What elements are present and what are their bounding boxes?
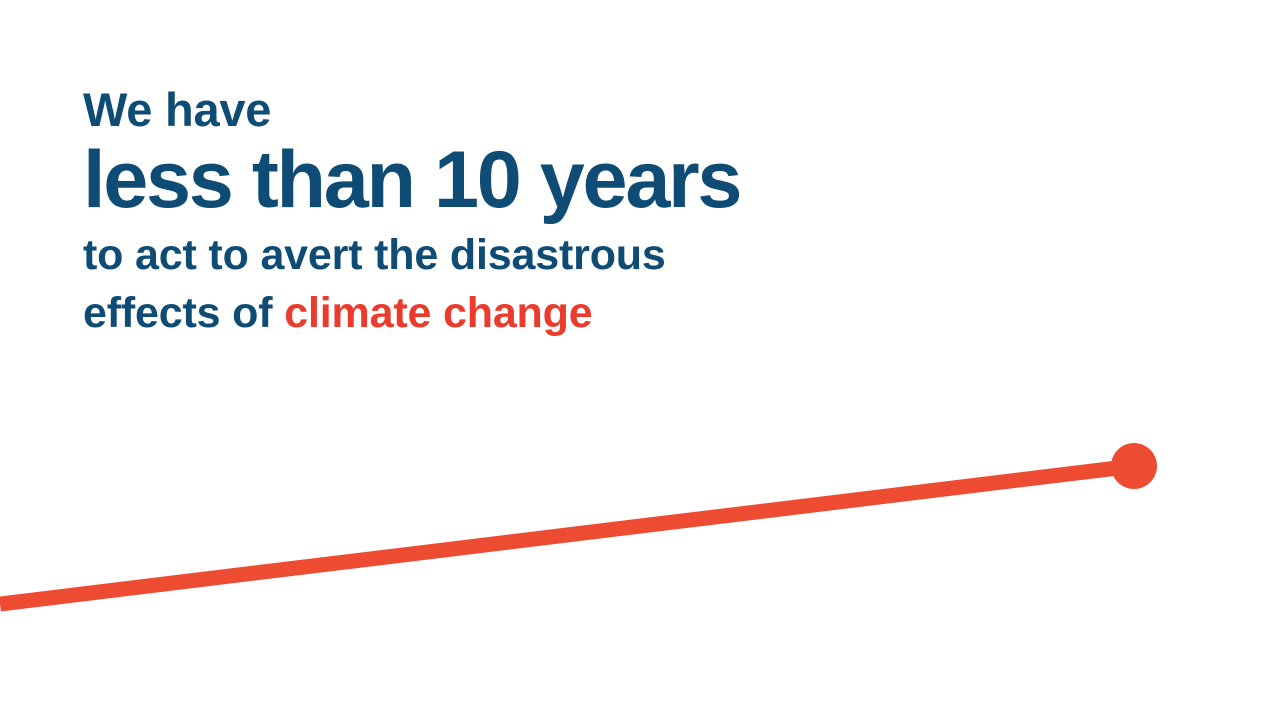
headline-block: We have less than 10 years to act to ave…	[83, 82, 903, 342]
headline-line-1: We have	[83, 82, 903, 138]
headline-line-4: effects of climate change	[83, 284, 903, 342]
trend-line-icon	[0, 466, 1134, 604]
slide-canvas: We have less than 10 years to act to ave…	[0, 0, 1280, 720]
headline-line-2-emphasised: less than 10 years	[83, 136, 903, 224]
trend-endpoint-dot-icon	[1111, 443, 1157, 489]
headline-climate-change-emphasis: climate change	[284, 289, 592, 337]
headline-line-4-prefix: effects of	[83, 289, 284, 337]
headline-line-3: to act to avert the disastrous	[83, 226, 903, 284]
